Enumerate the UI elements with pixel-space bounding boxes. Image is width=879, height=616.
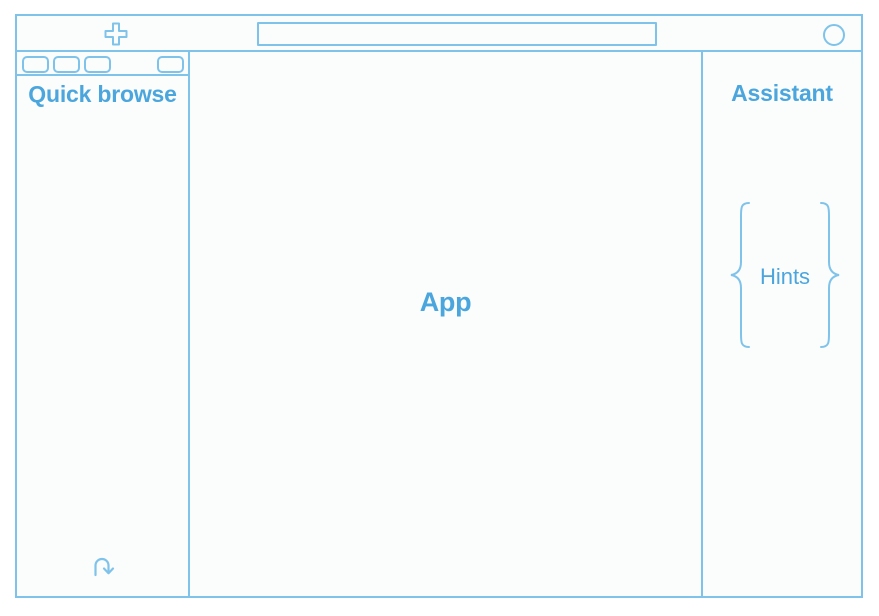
sidebar-toolbar [17,52,188,76]
hints-block: Hints [715,202,855,352]
sidebar-chip-4[interactable] [157,56,184,73]
account-avatar-button[interactable] [821,22,847,48]
browser-window-frame: Quick browse App Assistant [15,14,863,598]
sidebar-chip-3[interactable] [84,56,111,73]
top-bar [17,16,861,52]
quick-browse-sidebar: Quick browse [17,52,190,596]
hints-label: Hints [754,264,816,290]
new-tab-button[interactable] [97,19,135,49]
address-bar-input[interactable] [257,22,657,46]
window-body: Quick browse App Assistant [17,52,861,596]
left-brace-icon [728,200,754,355]
circle-avatar-icon [822,23,846,47]
app-content-area: App [190,52,703,596]
quick-browse-heading: Quick browse [17,79,188,110]
sidebar-chip-2[interactable] [53,56,80,73]
app-label: App [420,287,472,318]
u-turn-arrow-icon [91,554,119,580]
undo-navigation-button[interactable] [89,552,121,582]
assistant-panel: Assistant Hints [703,52,861,596]
wireframe-canvas: Quick browse App Assistant [0,0,879,616]
assistant-heading: Assistant [703,80,861,107]
sidebar-chip-1[interactable] [22,56,49,73]
plus-icon [103,21,129,47]
right-brace-icon [816,200,842,355]
